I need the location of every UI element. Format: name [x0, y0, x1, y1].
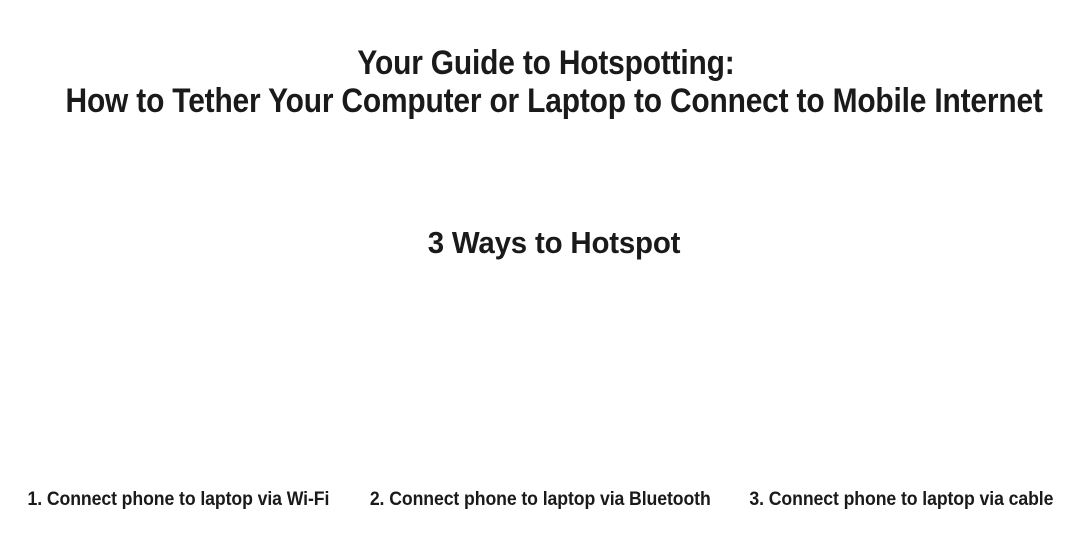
step-caption-3: 3. Connect phone to laptop via cable — [736, 487, 1068, 515]
page-title: Your Guide to Hotspotting: How to Tether… — [0, 44, 1080, 120]
steps-illustration-row — [0, 280, 1080, 476]
step-image-bluetooth — [360, 280, 720, 476]
step-caption-2: 2. Connect phone to laptop via Bluetooth — [370, 487, 711, 515]
step-image-wifi — [0, 280, 360, 476]
section-heading: 3 Ways to Hotspot — [28, 224, 1080, 262]
step-caption-1: 1. Connect phone to laptop via Wi-Fi — [12, 487, 344, 515]
page-title-line-1: Your Guide to Hotspotting: — [66, 44, 1027, 82]
steps-caption-row: 1. Connect phone to laptop via Wi-Fi 2. … — [0, 487, 1080, 515]
step-figure-1 — [0, 280, 360, 476]
step-image-cable — [720, 280, 1080, 476]
step-figure-3 — [720, 280, 1080, 476]
page-title-line-2: How to Tether Your Computer or Laptop to… — [66, 82, 1027, 120]
step-figure-2 — [360, 280, 720, 476]
page-canvas: Your Guide to Hotspotting: How to Tether… — [0, 0, 1080, 552]
